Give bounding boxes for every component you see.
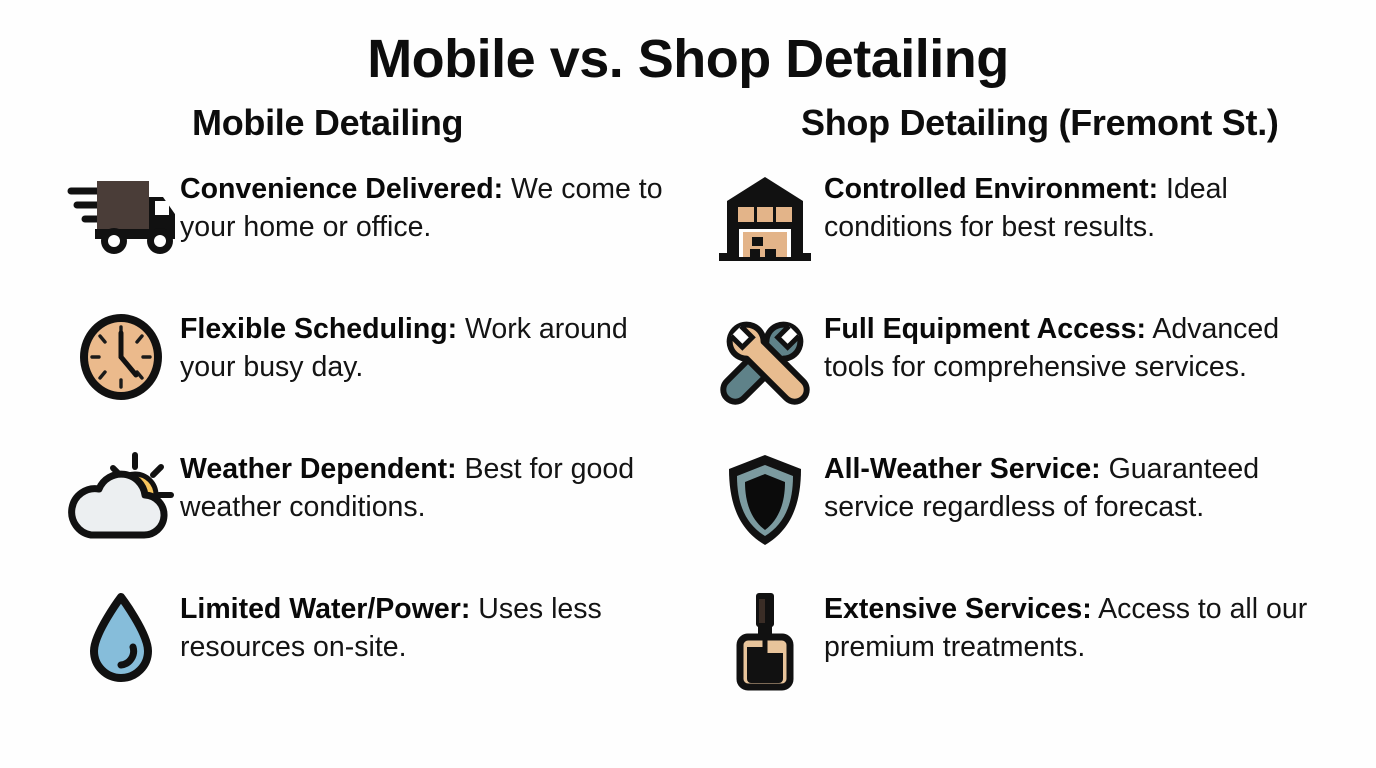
list-item-label: Convenience Delivered: [180,173,503,205]
list-item-text: Limited Water/Power: Uses less resources… [180,589,670,667]
list-item-text: Weather Dependent: Best for good weather… [180,449,670,527]
column-heading-mobile: Mobile Detailing [62,103,670,143]
column-heading-shop: Shop Detailing (Fremont St.) [706,103,1334,143]
list-item-label: All-Weather Service: [824,453,1101,485]
list-item-label: Full Equipment Access: [824,313,1146,345]
list-item-text: Controlled Environment: Ideal conditions… [824,169,1334,247]
clock-icon [62,309,180,403]
list-item-text: Convenience Delivered: We come to your h… [180,169,670,247]
comparison-columns: Mobile Detailing [0,89,1376,729]
water-drop-icon [62,589,180,687]
delivery-truck-icon [62,169,180,257]
shield-icon [706,449,824,549]
page-title: Mobile vs. Shop Detailing [0,0,1376,89]
list-item-label: Flexible Scheduling: [180,313,457,345]
warehouse-icon [706,169,824,265]
list-item-text: All-Weather Service: Guaranteed service … [824,449,1334,527]
list-item: Controlled Environment: Ideal conditions… [706,169,1334,287]
list-item: All-Weather Service: Guaranteed service … [706,449,1334,567]
list-item: Flexible Scheduling: Work around your bu… [62,309,670,427]
sun-behind-cloud-icon [62,449,180,543]
list-item: Extensive Services: Access to all our pr… [706,589,1334,707]
list-item-label: Controlled Environment: [824,173,1158,205]
list-item-label: Extensive Services: [824,593,1092,625]
column-shop-detailing: Shop Detailing (Fremont St.) [688,103,1354,729]
list-item-label: Weather Dependent: [180,453,457,485]
list-item-label: Limited Water/Power: [180,593,470,625]
crossed-tools-icon [706,309,824,409]
infographic-poster: Mobile vs. Shop Detailing Mobile Detaili… [0,0,1376,768]
list-item: Convenience Delivered: We come to your h… [62,169,670,287]
list-item-text: Full Equipment Access: Advanced tools fo… [824,309,1334,387]
list-item-text: Extensive Services: Access to all our pr… [824,589,1334,667]
column-mobile-detailing: Mobile Detailing [22,103,688,729]
list-item: Limited Water/Power: Uses less resources… [62,589,670,707]
list-item-text: Flexible Scheduling: Work around your bu… [180,309,670,387]
list-item: Full Equipment Access: Advanced tools fo… [706,309,1334,427]
list-item: Weather Dependent: Best for good weather… [62,449,670,567]
polish-bottle-icon [706,589,824,691]
